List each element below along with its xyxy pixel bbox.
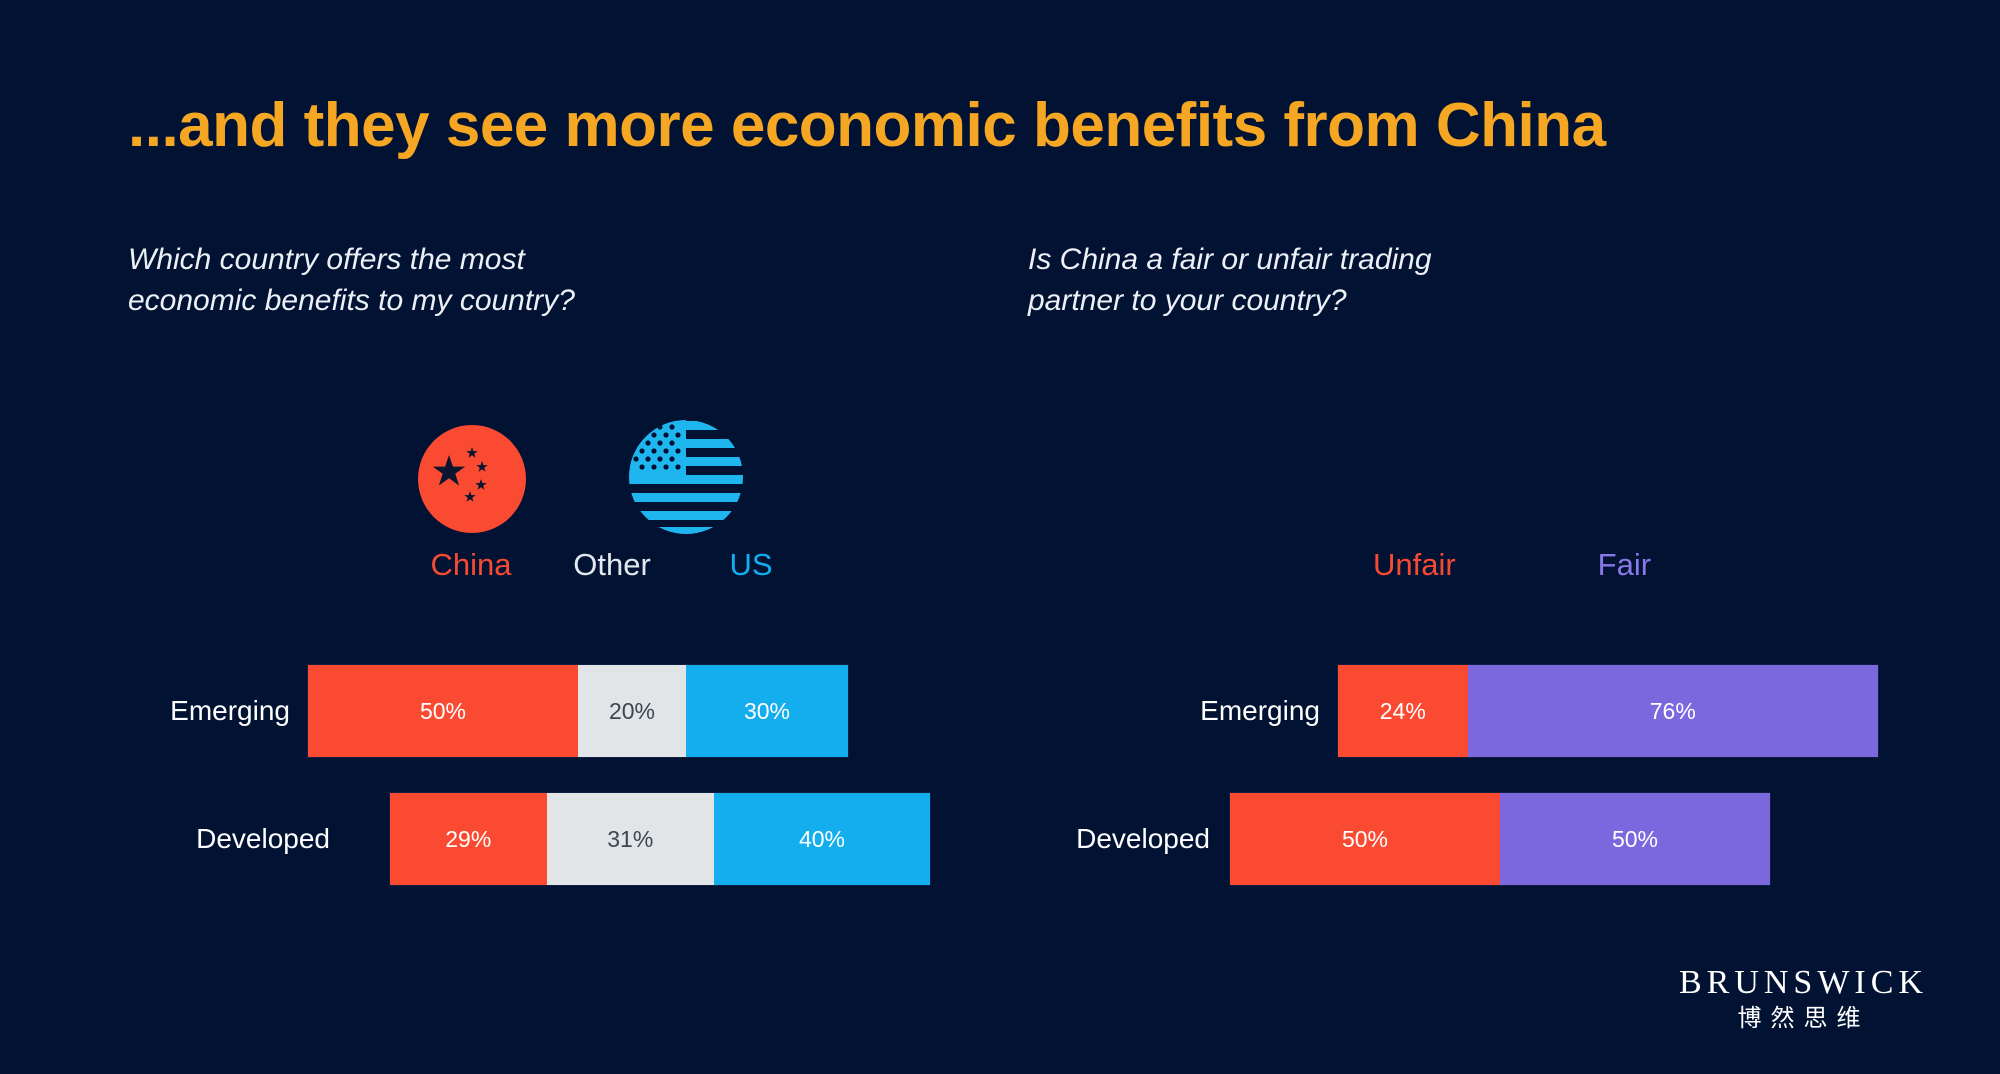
right-panel-subtitle: Is China a fair or unfair trading partne… [1028,240,1432,321]
bar-segment-unfair: 24% [1338,665,1468,757]
us-flag-stripes-svg [628,419,744,535]
bar-row-emerging: Emerging 24% 76% [1000,665,2000,757]
bar-segment-other: 31% [547,793,714,885]
brunswick-logo: BRUNSWICK 博然思维 [1679,964,1928,1032]
left-panel-legend: China Other US [400,425,820,615]
bar-row-label: Developed [100,823,330,855]
left-bar-chart: Emerging 50% 20% 30% Developed 29% 31% 4… [0,665,1000,921]
left-legend-labels: China Other US [400,547,820,583]
bar-segment-us: 40% [714,793,930,885]
bar-row-developed: Developed 50% 50% [1000,793,2000,885]
logo-chinese-name: 博然思维 [1679,1006,1928,1032]
bar-segment-us: 30% [686,665,848,757]
legend-label-unfair: Unfair [1338,547,1491,583]
bar-segment-fair: 50% [1500,793,1770,885]
bar-segment-unfair: 50% [1230,793,1500,885]
china-flag-circle-icon [418,425,526,533]
bar-row-developed: Developed 29% 31% 40% [0,793,1000,885]
china-flag-stars-svg [418,425,526,533]
bar-segment-other: 20% [578,665,686,757]
slide-canvas: ...and they see more economic benefits f… [0,0,2000,1074]
stacked-bar: 24% 76% [1338,665,1878,757]
left-panel-subtitle: Which country offers the most economic b… [128,240,575,321]
logo-wordmark: BRUNSWICK [1679,964,1928,1001]
legend-label-china: China [400,547,542,583]
bar-row-label: Emerging [1090,695,1320,727]
bar-segment-china: 50% [308,665,578,757]
right-bar-chart: Emerging 24% 76% Developed 50% 50% [1000,665,2000,921]
bar-row-label: Emerging [60,695,290,727]
legend-label-us: US [682,547,820,583]
legend-label-other: Other [542,547,682,583]
bar-row-label: Developed [980,823,1210,855]
bar-segment-china: 29% [390,793,547,885]
bar-segment-fair: 76% [1468,665,1878,757]
left-panel: Which country offers the most economic b… [0,0,1000,1074]
legend-label-fair: Fair [1491,547,1758,583]
us-flag-circle-icon [628,419,744,535]
stacked-bar: 29% 31% 40% [390,793,930,885]
bar-row-emerging: Emerging 50% 20% 30% [0,665,1000,757]
stacked-bar: 50% 50% [1230,793,1770,885]
stacked-bar: 50% 20% 30% [308,665,848,757]
right-panel-legend: Unfair Fair [1338,547,1758,583]
